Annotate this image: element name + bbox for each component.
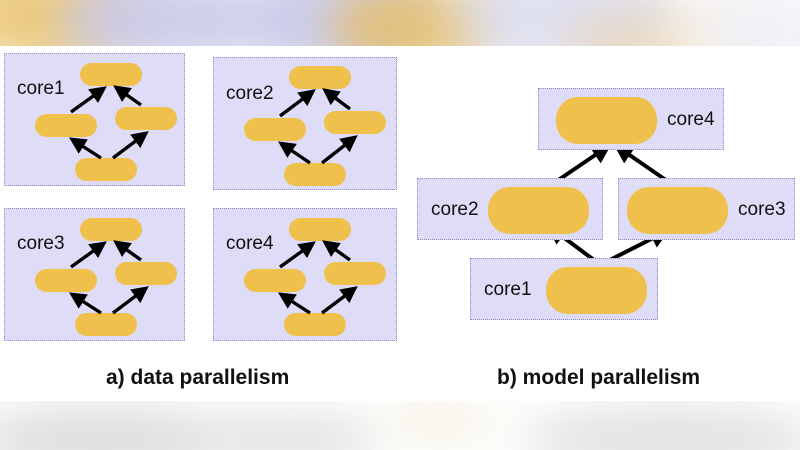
compute-block-core4: [556, 97, 657, 144]
caption-data-parallelism: a) data parallelism: [106, 366, 289, 390]
core-panel-label: core4: [667, 110, 715, 129]
compute-block-core3: [627, 187, 728, 234]
core-panel-label: core2: [431, 200, 479, 219]
compute-block-core2: [488, 187, 589, 234]
core-panel-core4-model[interactable]: core4: [538, 88, 724, 150]
core-panel-label: core3: [738, 200, 786, 219]
core-panel-core3-model[interactable]: core3: [618, 178, 795, 240]
slide-canvas: core1 core2: [0, 0, 800, 450]
caption-model-parallelism: b) model parallelism: [497, 366, 700, 390]
compute-block-core1: [546, 267, 647, 314]
core-panel-core1-model[interactable]: core1: [470, 258, 658, 320]
core-panel-label: core1: [484, 280, 532, 299]
core-panel-core2-model[interactable]: core2: [417, 178, 603, 240]
